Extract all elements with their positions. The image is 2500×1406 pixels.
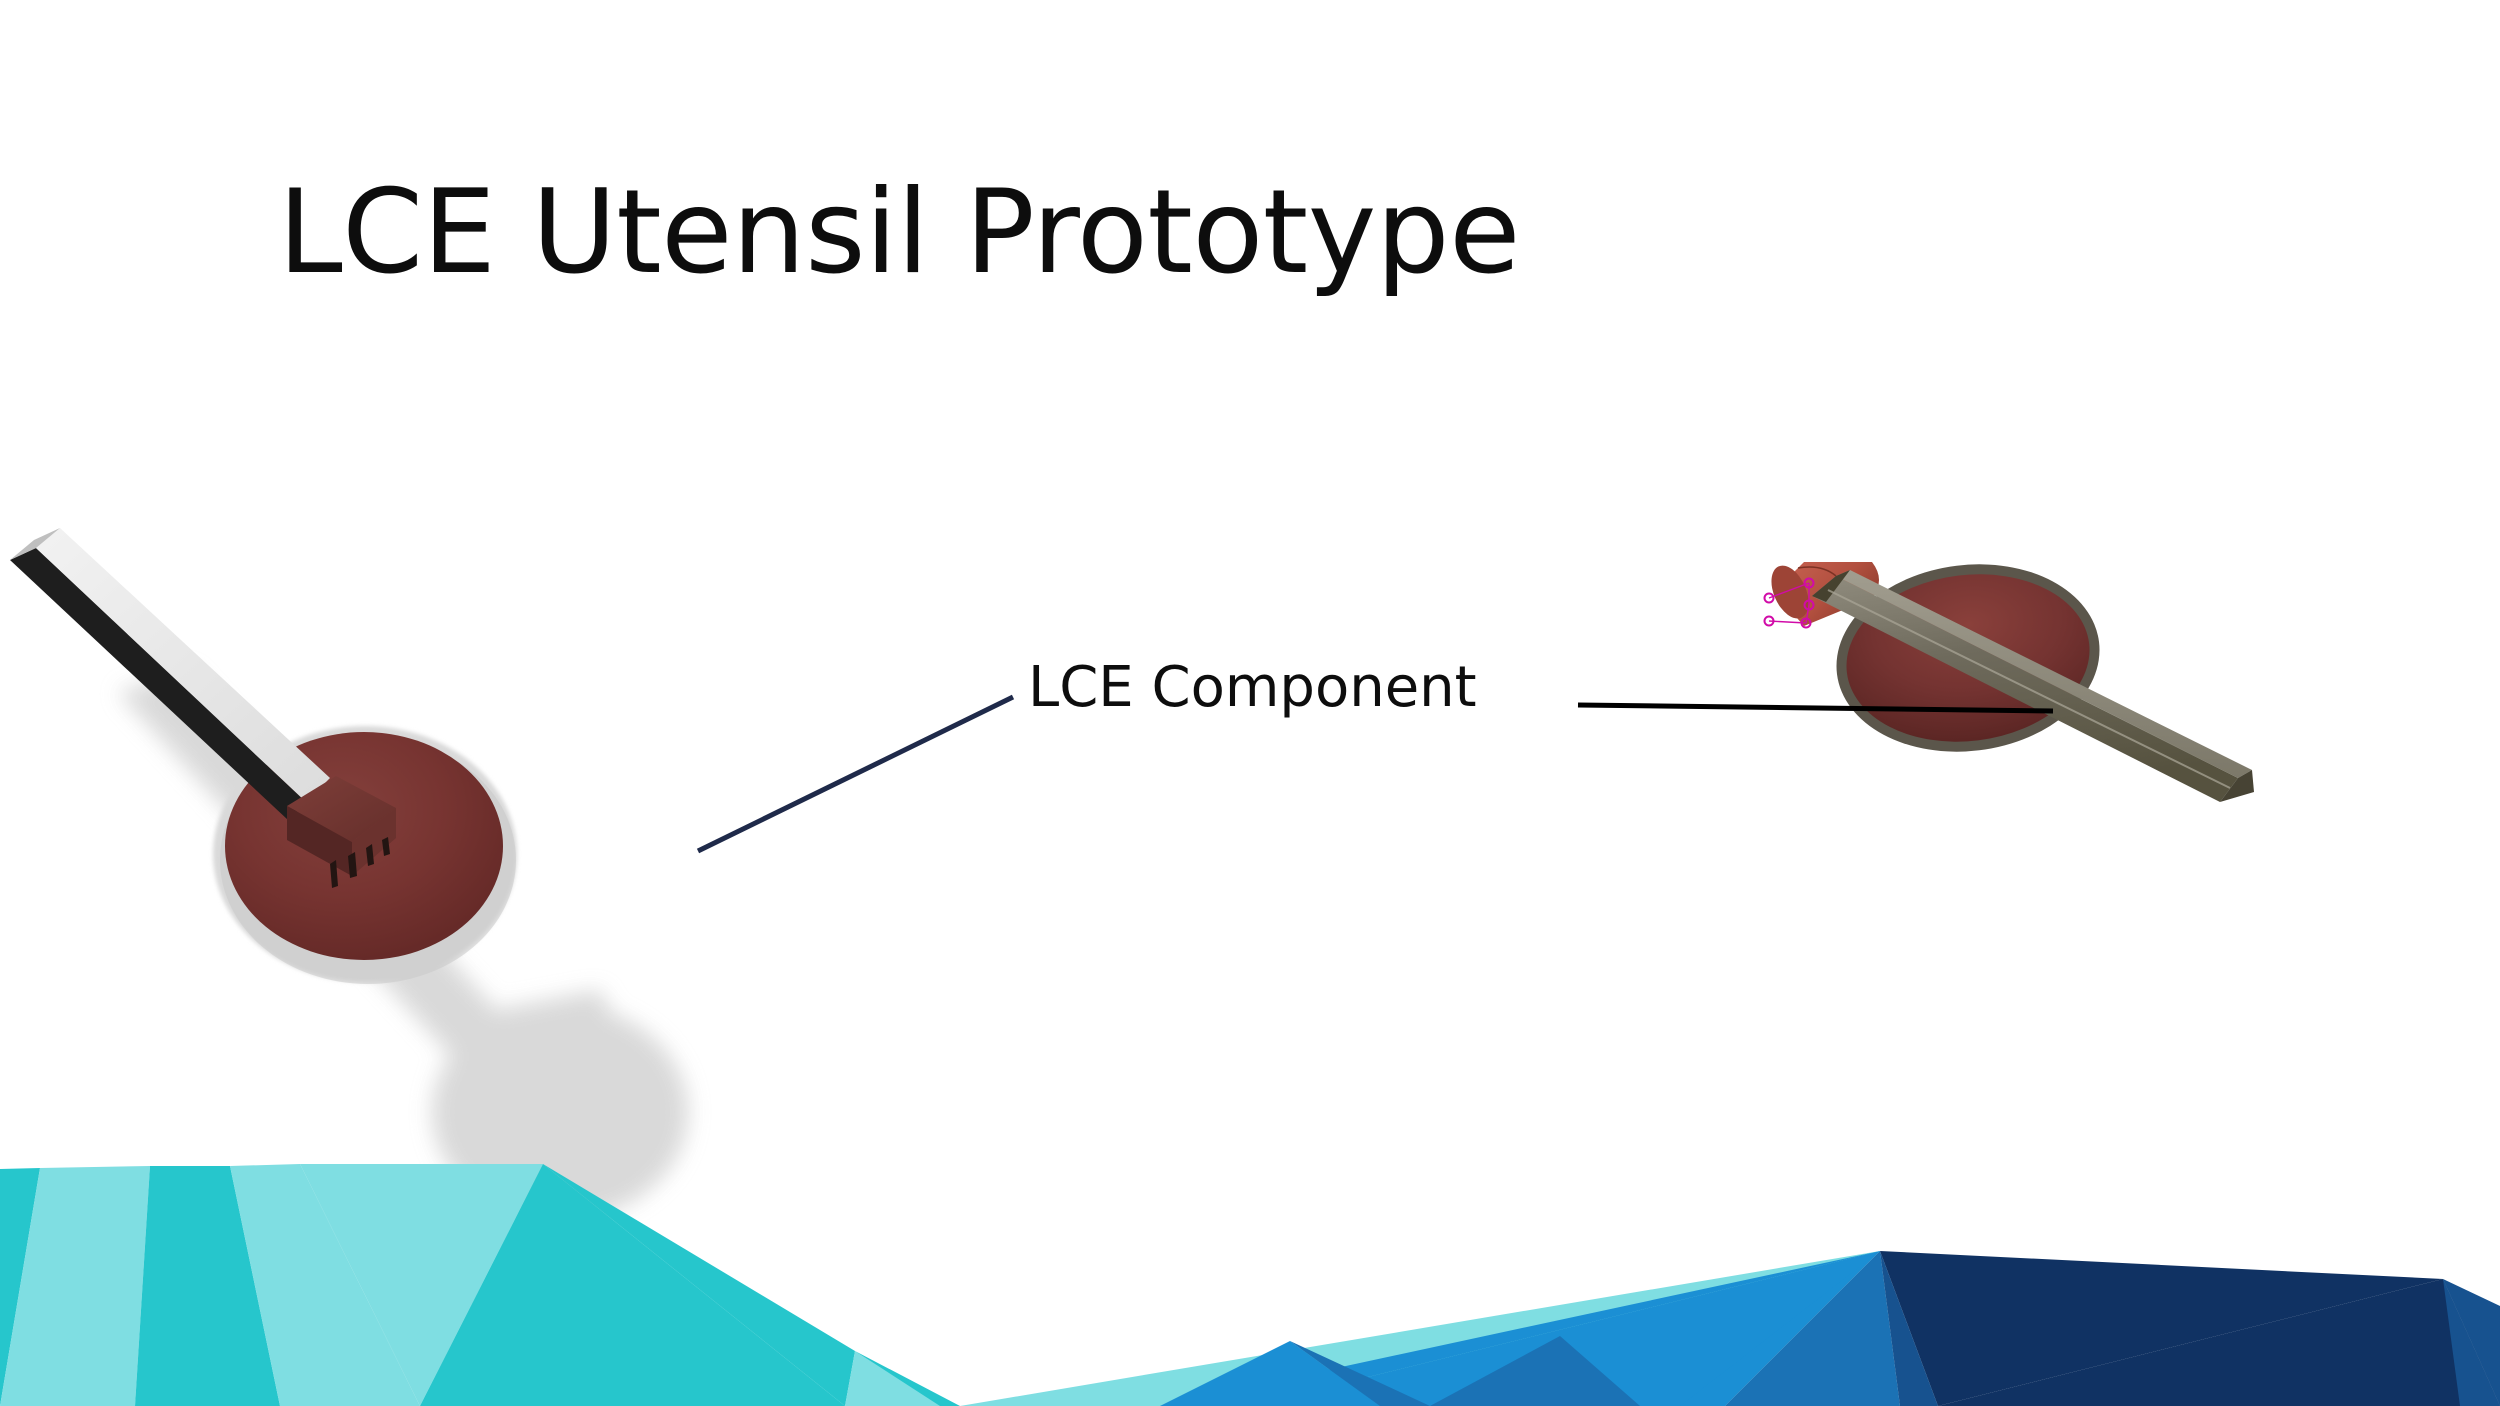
utensil-handle: [10, 528, 330, 820]
page-title: LCE Utensil Prototype: [278, 168, 2078, 298]
low-poly-mountain-band: [0, 1156, 2500, 1406]
callout-label-lce-component: LCE Component: [1028, 655, 1477, 720]
lce-utensil-render-assembled: [0, 520, 960, 1220]
lce-utensil-render-cad: [1760, 540, 2320, 880]
slide-canvas: LCE Utensil Prototype: [0, 0, 2500, 1406]
